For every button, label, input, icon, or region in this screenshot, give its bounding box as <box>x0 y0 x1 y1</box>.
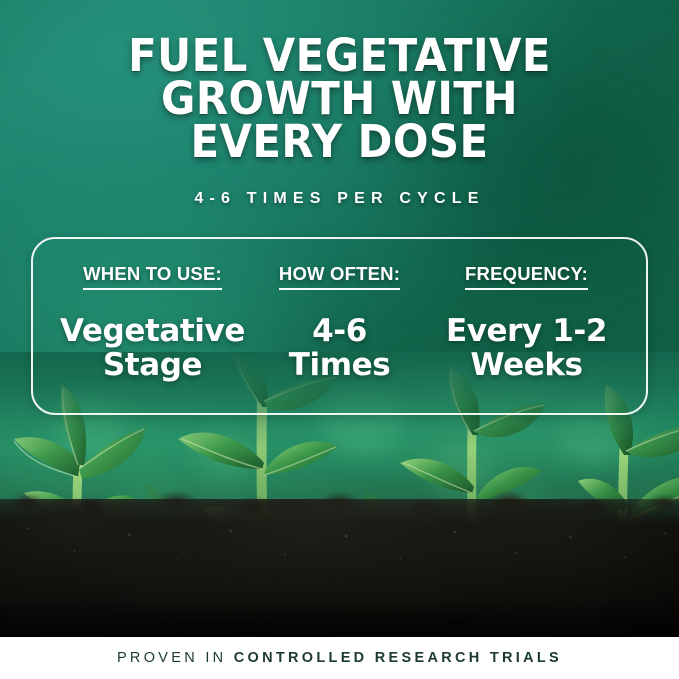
when-to-use-line-1: Vegetative <box>59 314 246 348</box>
headline-line-2: GROWTH WITH <box>24 77 655 120</box>
footer-lead: PROVEN IN <box>117 650 234 666</box>
footer-banner: PROVEN IN CONTROLLED RESEARCH TRIALS <box>0 637 679 679</box>
footer-emphasis: CONTROLLED RESEARCH TRIALS <box>234 650 562 666</box>
headline-line-1: FUEL VEGETATIVE <box>24 34 655 77</box>
when-to-use-line-2: Stage <box>59 348 246 382</box>
promotional-poster: FUEL VEGETATIVE GROWTH WITH EVERY DOSE 4… <box>0 0 679 679</box>
column-label-frequency: FREQUENCY: <box>465 263 588 290</box>
column-when-to-use: WHEN TO USE: Vegetative Stage <box>59 263 246 382</box>
column-value-frequency: Every 1-2 Weeks <box>433 314 620 382</box>
column-label-when-to-use: WHEN TO USE: <box>83 263 222 290</box>
column-value-how-often: 4-6 Times <box>246 314 433 382</box>
headline-line-3: EVERY DOSE <box>24 120 655 163</box>
column-how-often: HOW OFTEN: 4-6 Times <box>246 263 433 382</box>
subheadline: 4-6 TIMES PER CYCLE <box>0 190 679 208</box>
how-often-line-2: Times <box>246 348 433 382</box>
column-label-how-often: HOW OFTEN: <box>279 263 400 290</box>
frequency-line-2: Weeks <box>433 348 620 382</box>
usage-info-card: WHEN TO USE: Vegetative Stage HOW OFTEN:… <box>31 237 648 415</box>
how-often-line-1: 4-6 <box>246 314 433 348</box>
footer-text: PROVEN IN CONTROLLED RESEARCH TRIALS <box>117 650 562 666</box>
frequency-line-1: Every 1-2 <box>433 314 620 348</box>
usage-columns: WHEN TO USE: Vegetative Stage HOW OFTEN:… <box>33 239 646 413</box>
page-title: FUEL VEGETATIVE GROWTH WITH EVERY DOSE <box>24 34 655 163</box>
column-value-when-to-use: Vegetative Stage <box>59 314 246 382</box>
column-frequency: FREQUENCY: Every 1-2 Weeks <box>433 263 620 382</box>
